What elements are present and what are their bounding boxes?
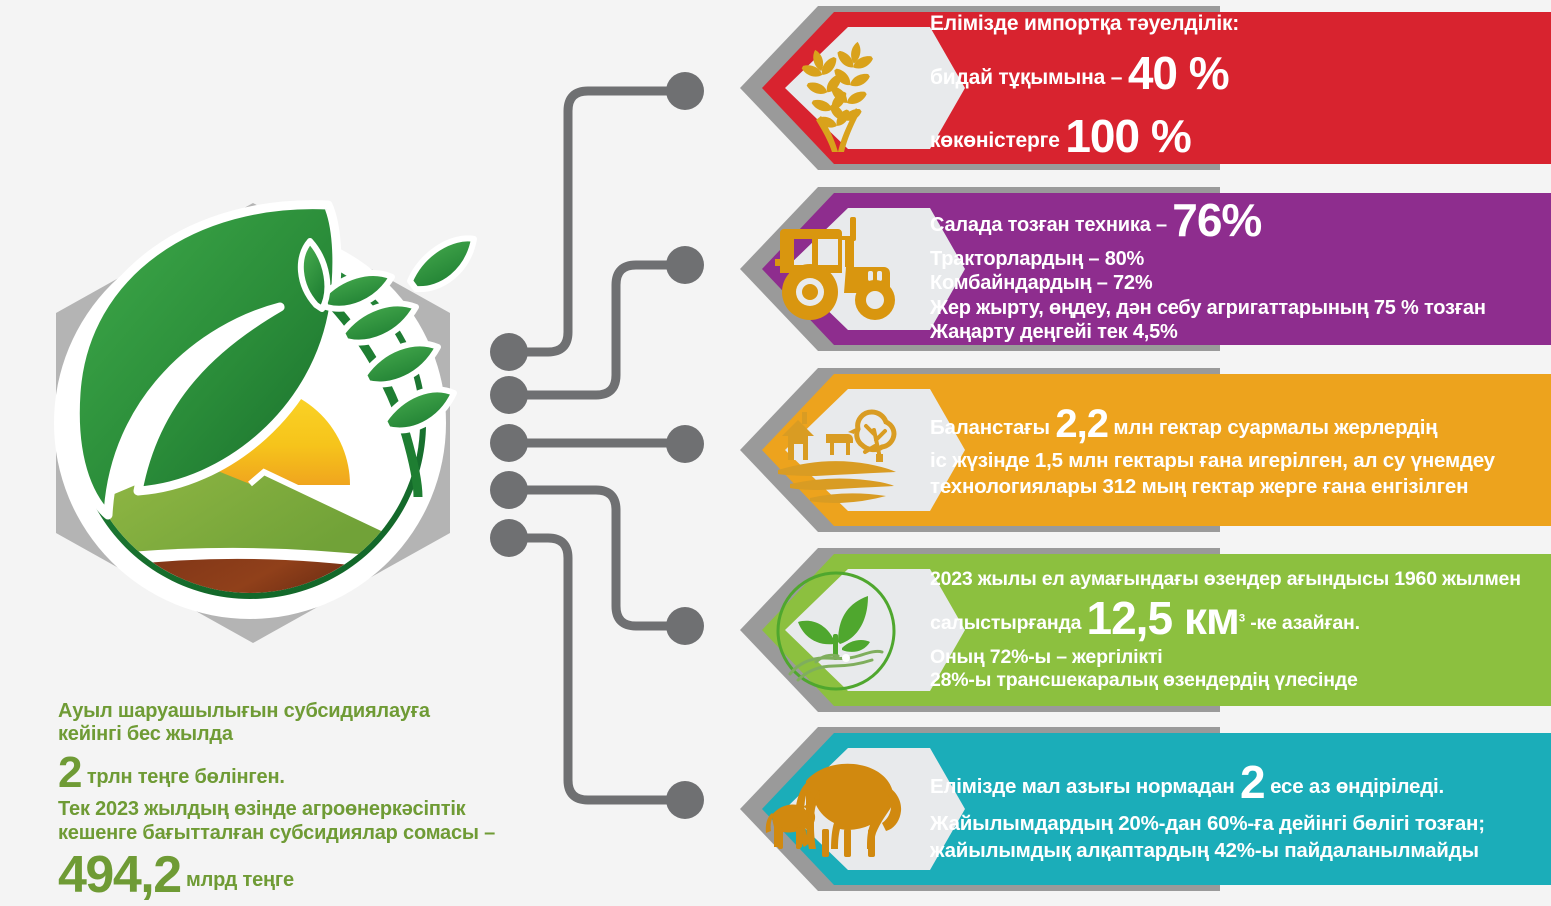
connector-dot-left-4 xyxy=(490,471,528,509)
connector-dot-right-5 xyxy=(666,781,704,819)
subsidy-note-line-6: 494,2 млрд теңге xyxy=(58,845,528,906)
connector-dot-left-1 xyxy=(490,333,528,371)
connector-dot-right-3 xyxy=(666,425,704,463)
subsidy-note-line-2: кейінгі бес жылда xyxy=(58,723,528,746)
connector-dot-right-1 xyxy=(666,72,704,110)
subsidy-note-line-1: Ауыл шаруашылығын субсидиялауға xyxy=(58,700,528,723)
connector-dot-left-5 xyxy=(490,519,528,557)
connector-path-2 xyxy=(509,265,685,395)
row-text-import: Елімізде импортқа тәуелділік: бидай тұқы… xyxy=(930,10,950,166)
connector-path-5 xyxy=(509,538,685,800)
subsidy-note-line-5: кешенге бағытталған субсидиялар сомасы – xyxy=(58,822,528,845)
wheat-icon xyxy=(764,16,908,162)
plant-in-hand-icon xyxy=(764,558,908,704)
connector-dot-right-4 xyxy=(666,607,704,645)
connector-dot-left-2 xyxy=(490,376,528,414)
horse-and-foal-icon xyxy=(764,737,908,883)
infographic-canvas: Елімізде импортқа тәуелділік: бидай тұқы… xyxy=(0,0,1551,903)
subsidy-note-line-4: Тек 2023 жылдың өзінде агроөнеркәсіптік xyxy=(58,798,528,821)
connector-path-4 xyxy=(509,490,685,626)
connector-path-1 xyxy=(509,91,685,352)
subsidy-note-line-3: 2 трлн теңге бөлінген. xyxy=(58,747,528,798)
tractor-icon xyxy=(764,197,908,343)
connector-dot-right-2 xyxy=(666,246,704,284)
farm-landscape-icon xyxy=(764,378,908,524)
connector-dot-left-3 xyxy=(490,424,528,462)
subsidy-note: Ауыл шаруашылығын субсидиялауға кейінгі … xyxy=(58,700,528,906)
